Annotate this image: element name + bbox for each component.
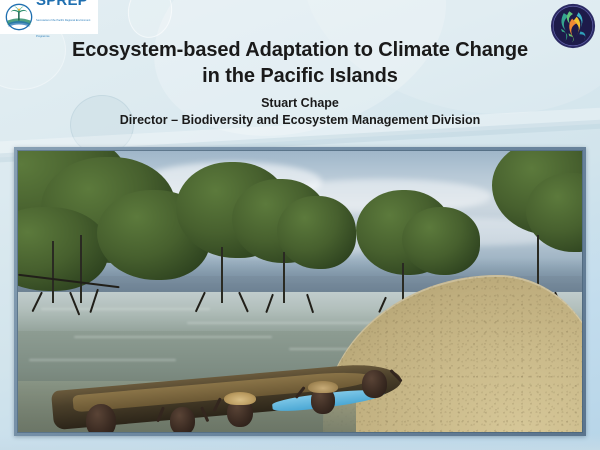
child-head — [362, 370, 387, 398]
slide-title-line-2: in the Pacific Islands — [0, 64, 600, 90]
circular-swirl-emblem-icon — [550, 3, 596, 49]
presenter-role: Director – Biodiversity and Ecosystem Ma… — [0, 112, 600, 129]
child-head — [86, 404, 116, 432]
child-blonde-hair — [308, 381, 337, 393]
child-head — [170, 407, 195, 432]
slide-title-line-1: Ecosystem-based Adaptation to Climate Ch… — [0, 38, 600, 64]
sprep-logo: SPREP Secretariat of the Pacific Regiona… — [0, 0, 98, 34]
mangrove-coast-photo — [18, 151, 582, 432]
background-oval-shape — [124, 0, 175, 41]
child-head — [311, 387, 335, 414]
mangrove-trunk — [221, 247, 223, 303]
sprep-tagline: Secretariat of the Pacific Regional Envi… — [36, 19, 90, 38]
sprep-wordmark: SPREP — [36, 0, 88, 9]
mangrove-trunk — [283, 252, 285, 303]
slide-bottom-gradient — [0, 434, 600, 450]
mangrove-trunk — [52, 241, 54, 303]
water-ripple — [29, 359, 176, 361]
presenter-name: Stuart Chape — [0, 96, 600, 112]
palm-tree-circle-icon — [5, 3, 33, 31]
photo-canvas — [18, 151, 582, 432]
child-head — [227, 398, 253, 427]
presentation-slide: SPREP Secretariat of the Pacific Regiona… — [0, 0, 600, 450]
pacific-emblem-logo — [550, 3, 596, 49]
sprep-wordmark-block: SPREP Secretariat of the Pacific Regiona… — [36, 0, 98, 41]
title-block: Ecosystem-based Adaptation to Climate Ch… — [0, 38, 600, 129]
mangrove-foliage — [402, 207, 481, 274]
mangrove-trunk — [80, 235, 82, 302]
child-blonde-hair — [224, 392, 256, 405]
mangrove-foliage — [277, 196, 356, 269]
